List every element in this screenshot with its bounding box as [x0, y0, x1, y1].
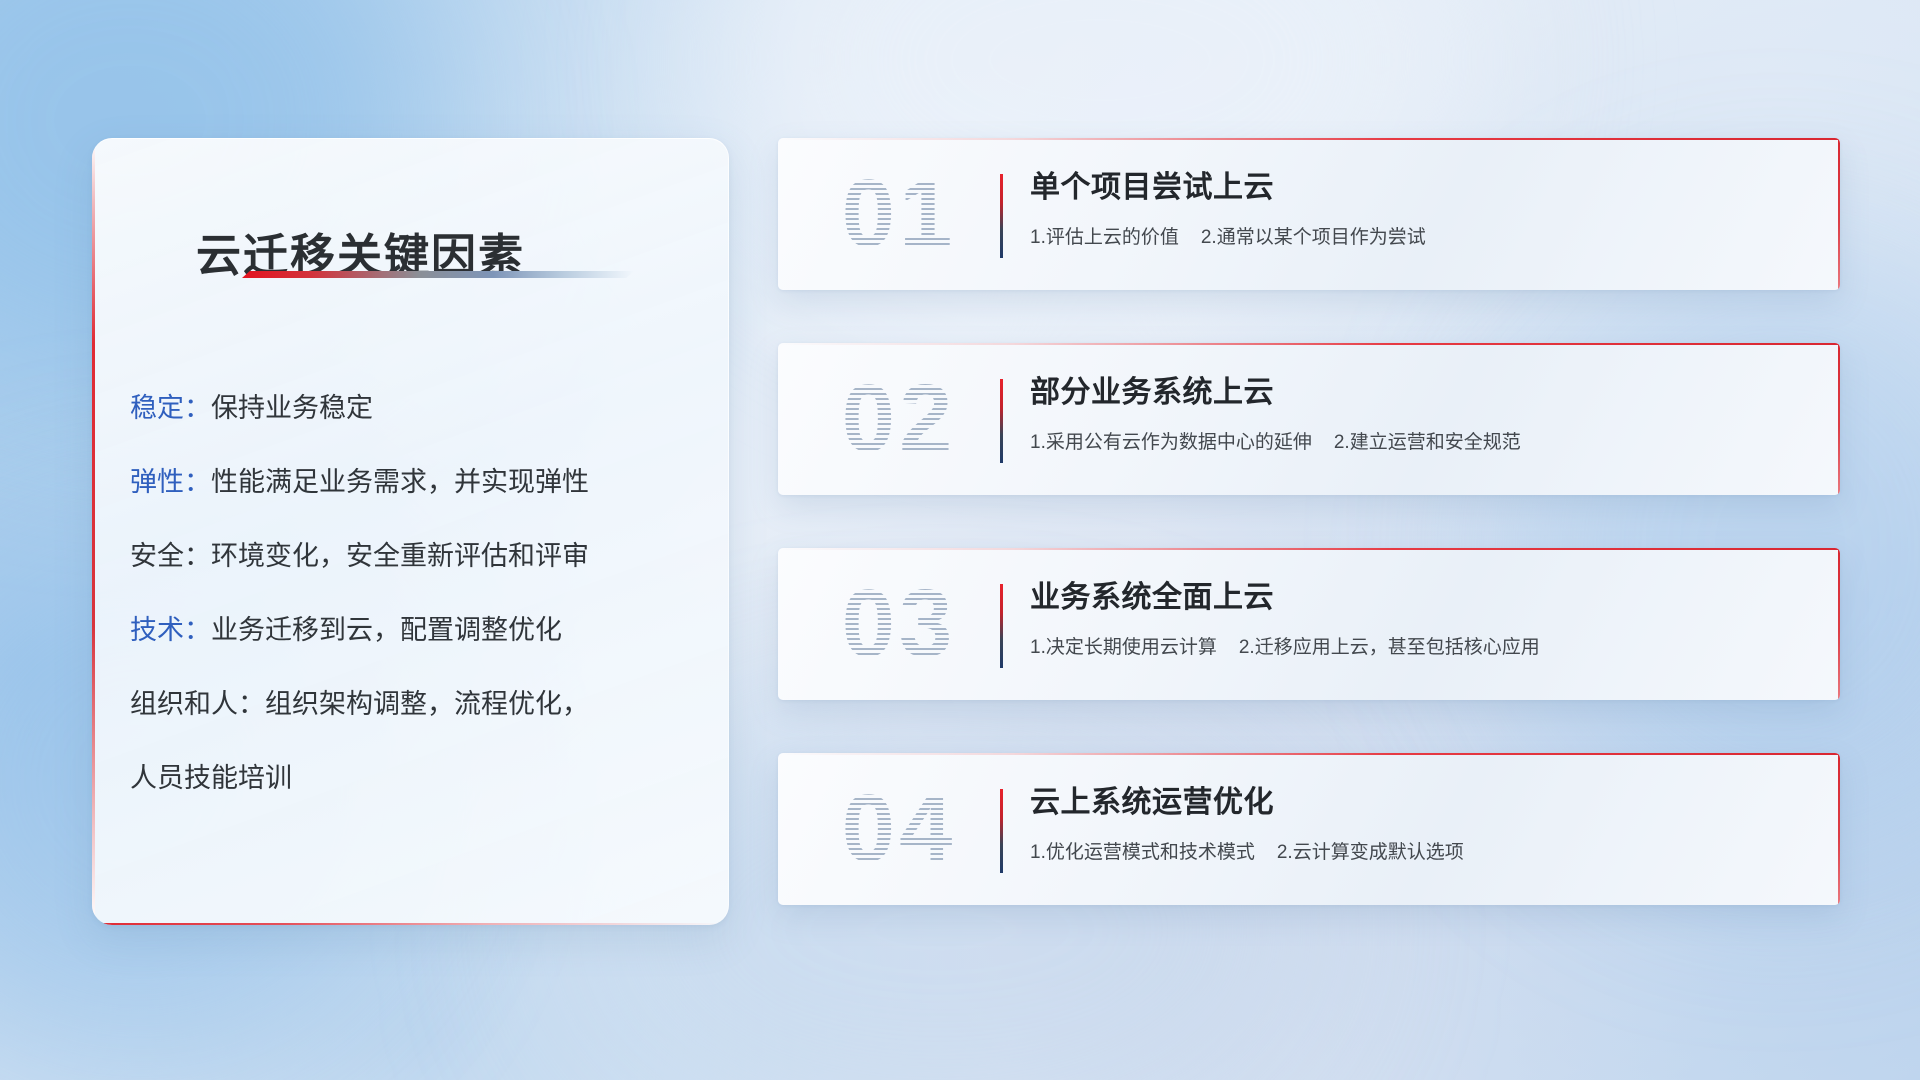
- factor-row: 安全：环境变化，安全重新评估和评审: [130, 519, 702, 593]
- title-underline-rule: [242, 271, 634, 278]
- factor-text: 业务迁移到云，配置调整优化: [211, 615, 562, 645]
- card-body: 业务系统全面上云1.决定长期使用云计算2.迁移应用上云，甚至包括核心应用: [1030, 576, 1810, 662]
- card-body: 单个项目尝试上云1.评估上云的价值2.通常以某个项目作为尝试: [1030, 166, 1810, 252]
- card-divider-bar: [1000, 174, 1003, 258]
- factor-label: 技术：: [130, 615, 211, 645]
- factor-row: 人员技能培训: [130, 741, 702, 815]
- card-description-item: 1.优化运营模式和技术模式: [1030, 842, 1255, 863]
- stage-card[interactable]: 04云上系统运营优化1.优化运营模式和技术模式2.云计算变成默认选项: [778, 753, 1840, 905]
- card-description-item: 1.采用公有云作为数据中心的延伸: [1030, 432, 1312, 453]
- migration-stage-cards: 01单个项目尝试上云1.评估上云的价值2.通常以某个项目作为尝试02部分业务系统…: [778, 138, 1840, 958]
- factor-row: 稳定：保持业务稳定: [130, 371, 702, 445]
- card-description-item: 2.建立运营和安全规范: [1334, 432, 1521, 453]
- card-description: 1.评估上云的价值2.通常以某个项目作为尝试: [1030, 224, 1810, 252]
- card-description-item: 1.评估上云的价值: [1030, 227, 1179, 248]
- factor-label: 组织和人：: [130, 689, 265, 719]
- card-description: 1.优化运营模式和技术模式2.云计算变成默认选项: [1030, 839, 1810, 867]
- key-factors-panel: 云迁移关键因素 稳定：保持业务稳定弹性：性能满足业务需求，并实现弹性安全：环境变…: [92, 138, 729, 925]
- factor-text: 保持业务稳定: [211, 393, 373, 423]
- stage-card[interactable]: 01单个项目尝试上云1.评估上云的价值2.通常以某个项目作为尝试: [778, 138, 1840, 290]
- card-title: 部分业务系统上云: [1030, 371, 1810, 415]
- factor-label: 弹性：: [130, 467, 211, 497]
- card-description-item: 2.通常以某个项目作为尝试: [1201, 227, 1426, 248]
- factor-label: 稳定：: [130, 393, 211, 423]
- factor-row: 组织和人：组织架构调整，流程优化，: [130, 667, 702, 741]
- factor-text: 人员技能培训: [130, 763, 292, 793]
- factor-text: 组织架构调整，流程优化，: [265, 689, 589, 719]
- factor-label: 安全：: [130, 541, 211, 571]
- card-description: 1.采用公有云作为数据中心的延伸2.建立运营和安全规范: [1030, 429, 1810, 457]
- card-index-number: 03: [814, 568, 984, 680]
- card-title: 云上系统运营优化: [1030, 781, 1810, 825]
- stage-card[interactable]: 03业务系统全面上云1.决定长期使用云计算2.迁移应用上云，甚至包括核心应用: [778, 548, 1840, 700]
- card-description: 1.决定长期使用云计算2.迁移应用上云，甚至包括核心应用: [1030, 634, 1810, 662]
- card-description-item: 2.迁移应用上云，甚至包括核心应用: [1239, 637, 1540, 658]
- card-description-item: 2.云计算变成默认选项: [1277, 842, 1464, 863]
- card-description-item: 1.决定长期使用云计算: [1030, 637, 1217, 658]
- factor-text: 性能满足业务需求，并实现弹性: [211, 467, 589, 497]
- card-index-number: 02: [814, 363, 984, 475]
- factor-list: 稳定：保持业务稳定弹性：性能满足业务需求，并实现弹性安全：环境变化，安全重新评估…: [130, 371, 702, 815]
- card-body: 部分业务系统上云1.采用公有云作为数据中心的延伸2.建立运营和安全规范: [1030, 371, 1810, 457]
- factor-text: 环境变化，安全重新评估和评审: [211, 541, 589, 571]
- factor-row: 技术：业务迁移到云，配置调整优化: [130, 593, 702, 667]
- card-index-number: 04: [814, 773, 984, 885]
- slide-canvas: 云迁移关键因素 稳定：保持业务稳定弹性：性能满足业务需求，并实现弹性安全：环境变…: [0, 0, 1920, 1080]
- card-divider-bar: [1000, 584, 1003, 668]
- stage-card[interactable]: 02部分业务系统上云1.采用公有云作为数据中心的延伸2.建立运营和安全规范: [778, 343, 1840, 495]
- factor-row: 弹性：性能满足业务需求，并实现弹性: [130, 445, 702, 519]
- card-title: 单个项目尝试上云: [1030, 166, 1810, 210]
- card-body: 云上系统运营优化1.优化运营模式和技术模式2.云计算变成默认选项: [1030, 781, 1810, 867]
- card-title: 业务系统全面上云: [1030, 576, 1810, 620]
- card-index-number: 01: [814, 158, 984, 270]
- card-divider-bar: [1000, 789, 1003, 873]
- card-divider-bar: [1000, 379, 1003, 463]
